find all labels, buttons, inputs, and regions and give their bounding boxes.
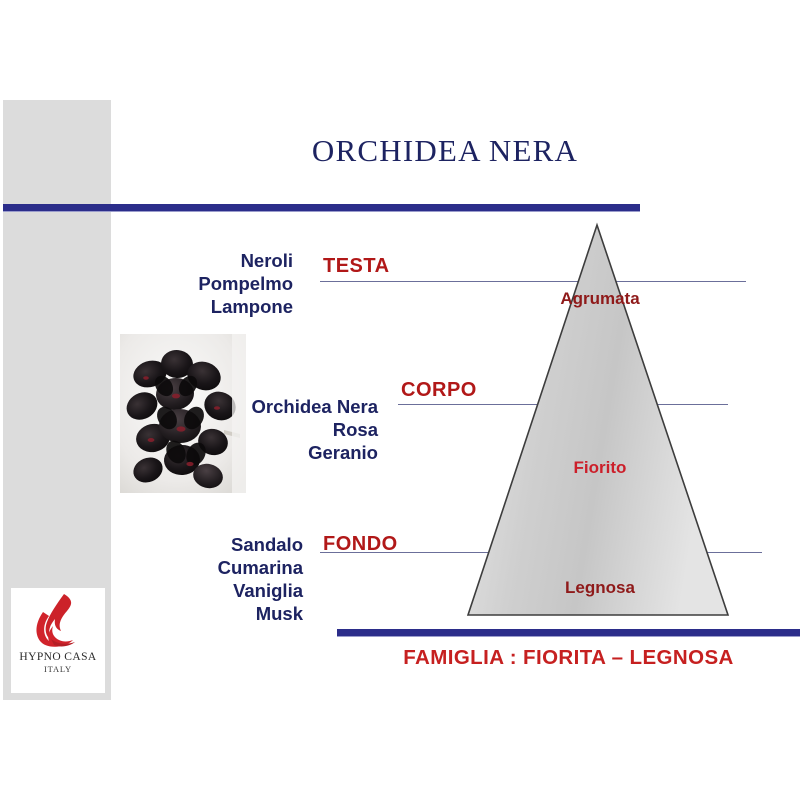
fragrance-pyramid [455,218,745,623]
ingredients-fondo: Sandalo Cumarina Vaniglia Musk [218,533,303,625]
pyramid-label-top: Agrumata [510,289,690,309]
logo-brand-country: ITALY [44,664,72,674]
ingredients-corpo: Orchidea Nera Rosa Geranio [252,395,378,464]
stage-label-testa: TESTA [323,255,390,278]
logo-brand-name: HYPNO CASA [19,651,96,663]
pyramid-triangle [468,225,728,615]
page-title: ORCHIDEA NERA [150,133,740,169]
footer-divider-bar [337,629,800,637]
brand-logo-card: HYPNO CASA ITALY [11,588,105,693]
pyramid-label-base: Legnosa [510,578,690,598]
slide-canvas: ORCHIDEA NERA Neroli Pompelmo Lampone Or… [0,0,800,800]
black-orchid-photo [120,334,246,493]
ingredients-testa: Neroli Pompelmo Lampone [198,249,293,318]
fragrance-family-line: FAMIGLIA : FIORITA – LEGNOSA [337,646,800,670]
stage-label-fondo: FONDO [323,533,398,556]
header-divider-bar [3,204,640,212]
pyramid-label-heart: Fiorito [510,458,690,478]
flame-logo-icon [30,592,86,650]
